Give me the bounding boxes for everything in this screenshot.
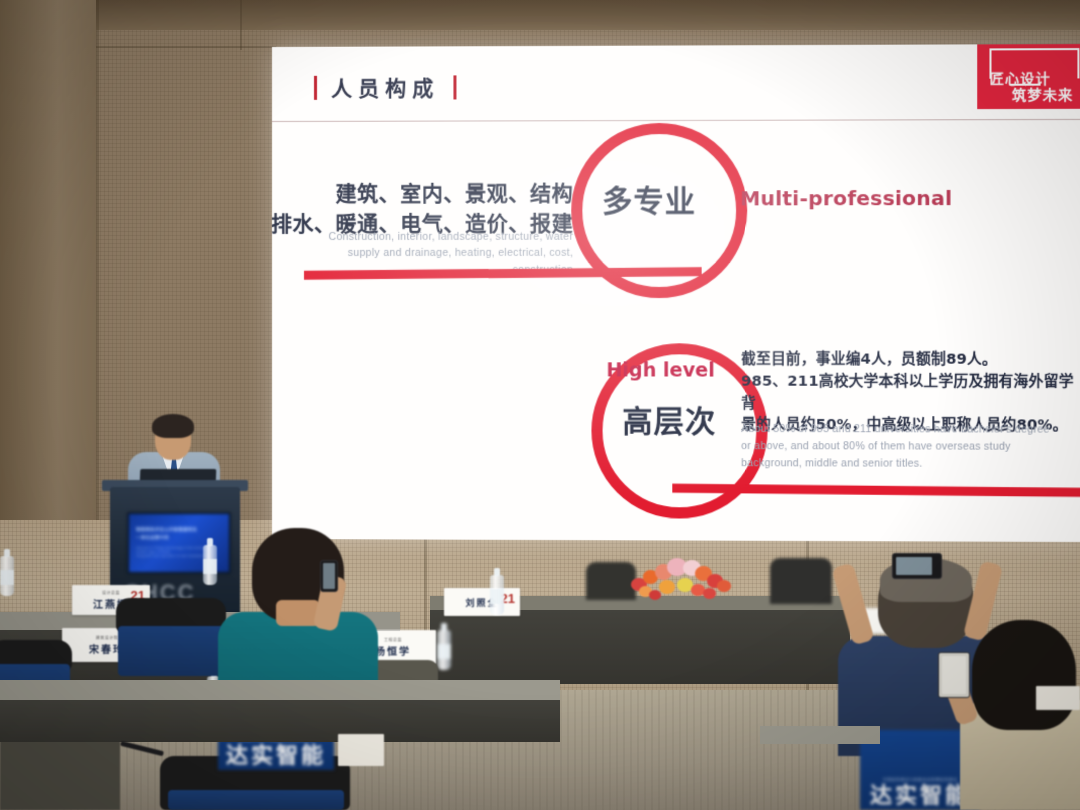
block2-en-line2: or above, and about 80% of them have ove… [741,438,1080,456]
water-bottle [437,630,451,670]
water-bottle [490,575,504,615]
chair-back [168,790,344,810]
circle1-label: 多专业 [589,176,708,220]
attendee-camera-phone [892,553,942,579]
page-title: 人员构成 [331,72,439,102]
block2-cn-line1: 截至目前，事业编4人，员额制89人。 [741,349,1080,371]
block1-en-line1: Construction, interior, landscape, struc… [272,229,573,246]
block2-side-label: High level [606,359,715,381]
chair-banner-big: 达实智能 [870,785,970,807]
projection-screen: 匠心设计 筑梦未来 人员构成 建筑、室内、景观、结构 给排水、暖通、电气、造价、… [272,44,1080,542]
wall-column-left [0,0,96,560]
photo-scene: 匠心设计 筑梦未来 人员构成 建筑、室内、景观、结构 给排水、暖通、电气、造价、… [0,0,1080,810]
water-bottle [0,556,14,596]
wall-top-trim [0,0,1080,30]
logo-line2: 筑梦未来 [1012,85,1073,105]
namecard: 刘照全 21 [444,588,520,616]
block1-en-line2: supply and drainage, heating, electrical… [272,245,573,261]
slide-title-row: 人员构成 [314,72,456,102]
attendee-phone [320,560,338,592]
notepad [1036,686,1080,710]
notepad [338,734,384,766]
second-table-skirt [0,700,560,742]
namecard-name: 杨恒学 [375,643,411,658]
right-table-top [760,726,880,744]
speaker-hair [152,414,194,438]
attendee-head [972,620,1076,730]
wall-seam [240,0,242,50]
second-table-top [0,680,560,702]
company-logo: 匠心设计 筑梦未来 [977,44,1080,109]
head-table-chair [770,558,832,604]
block2-english: About 50% of 985 and 211 universities ha… [741,421,1080,473]
title-divider [272,119,1080,122]
water-bottle [203,545,217,585]
block2-en-line3: background, middle and senior titles. [741,455,1080,473]
flower-arrangement [625,556,735,602]
wall-seam [96,0,99,560]
block2-en-line1: About 50% of 985 and 211 universities ha… [741,421,1080,439]
block1-side-label: Multi-professional [740,186,952,211]
attendee-tablet [938,652,970,698]
chair-banner-big: 达实智能 [226,745,326,767]
block1-cn-line1: 建筑、室内、景观、结构 [272,179,573,209]
monitor-line1: 物联网技术在公共智慧建筑及 [136,527,222,533]
title-tick-right-icon [453,75,456,99]
title-tick-left-icon [314,76,317,100]
chair-back [118,626,224,676]
head-table-skirt [430,610,850,684]
block2-cn-line2: 985、211高校大学本科以上学历及拥有海外留学背 [741,371,1080,415]
presentation-slide: 匠心设计 筑梦未来 人员构成 建筑、室内、景观、结构 给排水、暖通、电气、造价、… [272,44,1080,542]
circle2-label: 高层次 [610,397,729,441]
